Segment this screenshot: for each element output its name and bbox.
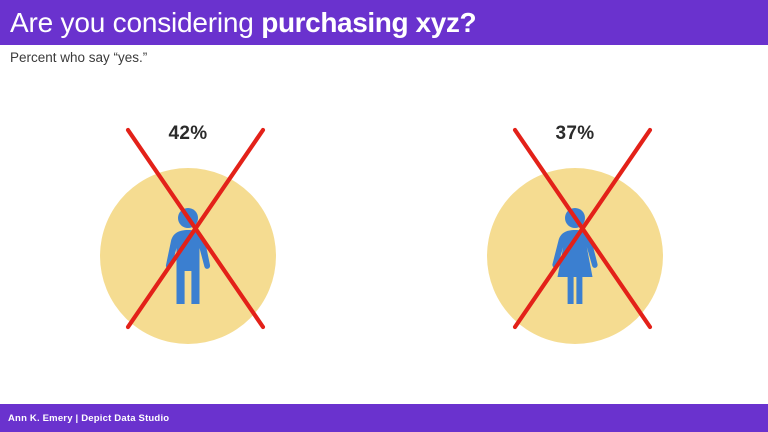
chart-plot-area: 42% 37% — [0, 95, 768, 375]
header-bar: Are you considering purchasing xyz? — [0, 0, 768, 45]
female-figure-icon — [547, 207, 603, 307]
pictogram-group-female: 37% — [455, 95, 695, 375]
pictogram-group-male: 42% — [68, 95, 308, 375]
slide-canvas: Are you considering purchasing xyz? Perc… — [0, 0, 768, 432]
male-figure-icon — [160, 207, 216, 307]
page-title-light: Are you considering — [10, 7, 261, 38]
footer-credit: Ann K. Emery | Depict Data Studio — [8, 413, 169, 424]
subtitle: Percent who say “yes.” — [10, 50, 147, 65]
page-title-bold: purchasing xyz? — [261, 7, 476, 38]
value-label-female: 37% — [455, 123, 695, 145]
page-title: Are you considering purchasing xyz? — [10, 8, 476, 38]
footer-bar: Ann K. Emery | Depict Data Studio — [0, 404, 768, 432]
value-label-male: 42% — [68, 123, 308, 145]
